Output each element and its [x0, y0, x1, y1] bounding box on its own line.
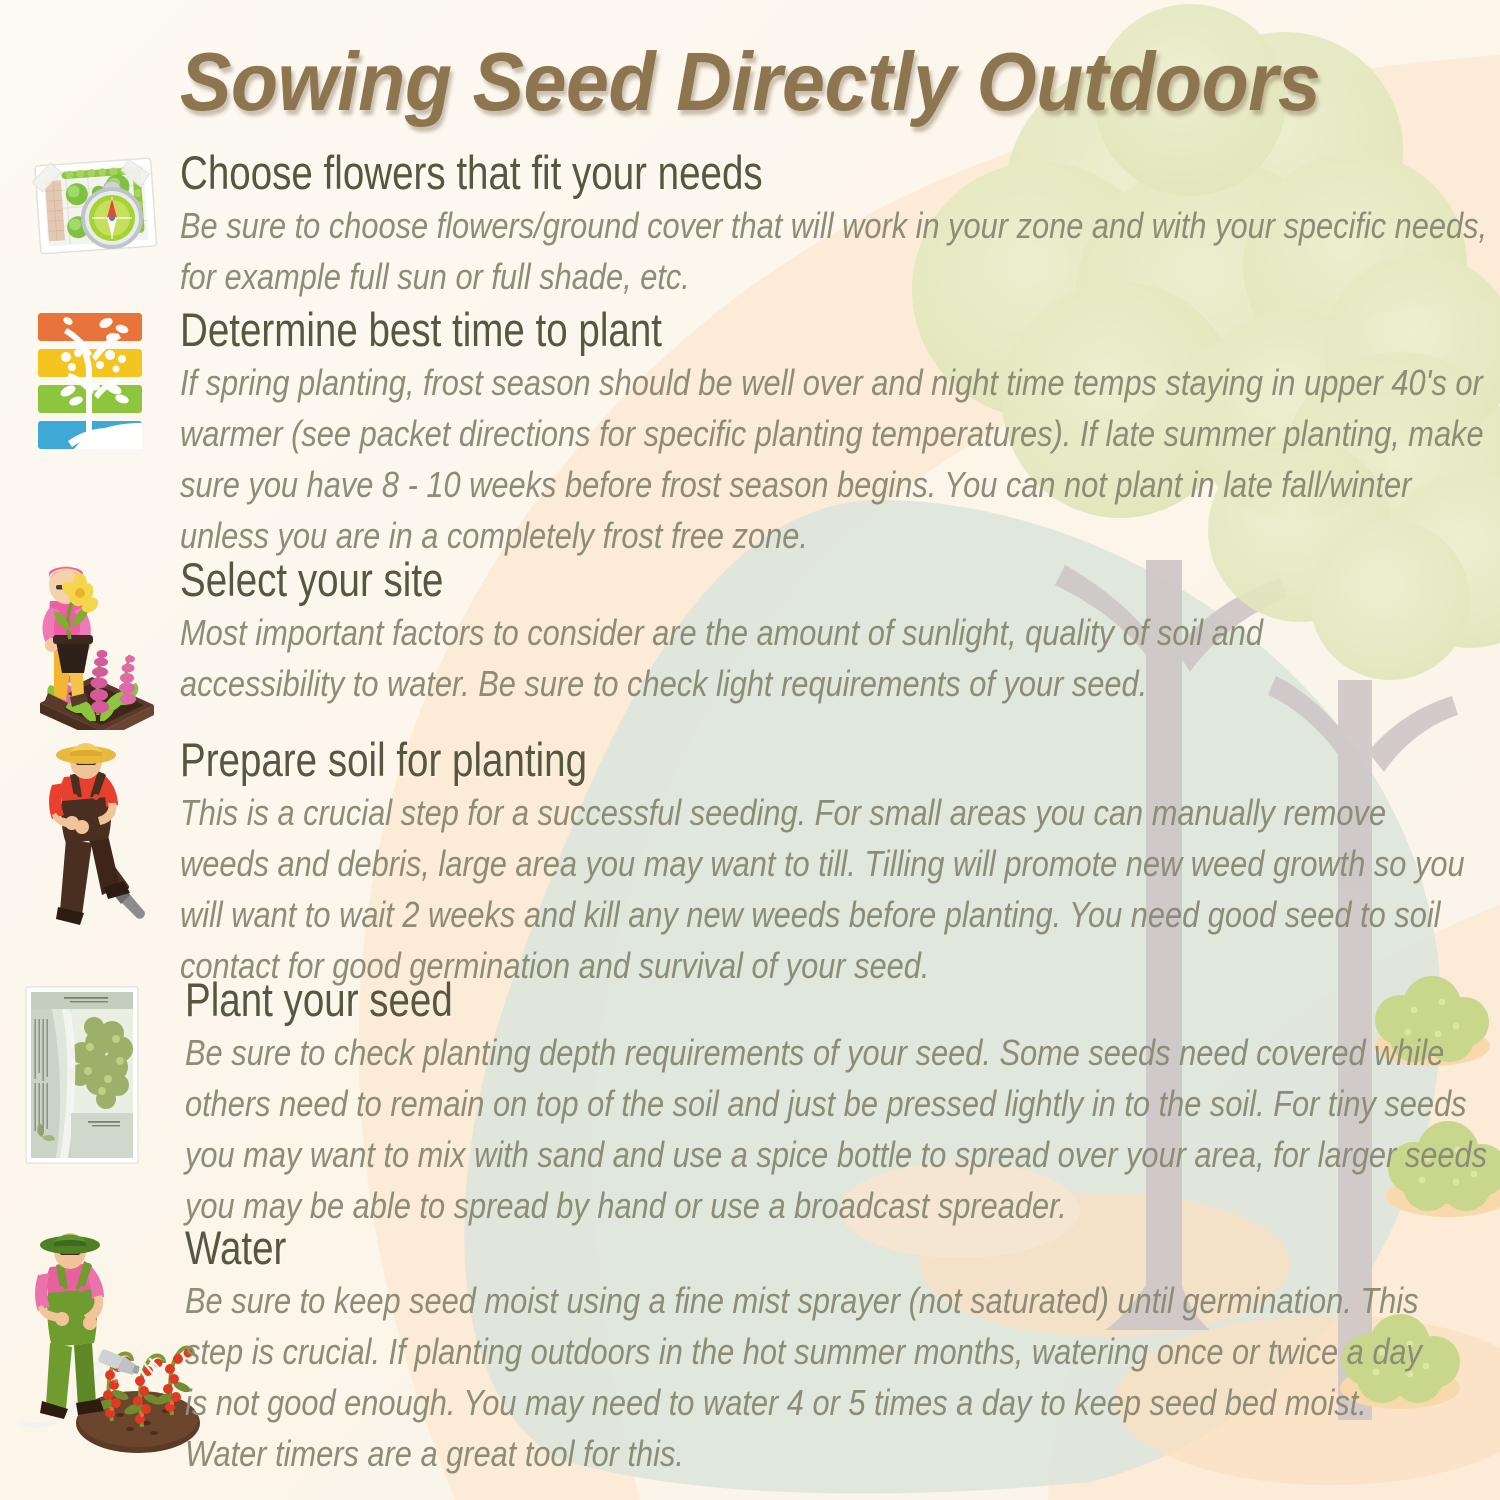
- seed-packet-icon: [20, 975, 170, 1175]
- gardener-with-shovel-icon: [20, 735, 170, 935]
- step-paragraph: Be sure to keep seed moist using a fine …: [185, 1275, 1433, 1479]
- step-body: Choose flowers that fit your needs Be su…: [180, 148, 1500, 302]
- garden-plan-compass-icon: [20, 148, 170, 288]
- step-heading: Determine best time to plant: [180, 305, 1459, 355]
- steps-list: Choose flowers that fit your needs Be su…: [0, 0, 1500, 1500]
- step-paragraph: Be sure to choose flowers/ground cover t…: [180, 200, 1500, 302]
- step-paragraph: Be sure to check planting depth requirem…: [185, 1027, 1500, 1231]
- step-heading: Select your site: [180, 555, 1459, 605]
- step-heading: Prepare soil for planting: [180, 735, 1459, 785]
- poster-title-wrap: Sowing Seed Directly Outdoors: [0, 34, 1500, 130]
- step-body: Select your site Most important factors …: [180, 555, 1500, 709]
- step-body: Determine best time to plant If spring p…: [180, 305, 1500, 561]
- step-body: Water Be sure to keep seed moist using a…: [185, 1223, 1500, 1479]
- step-heading: Choose flowers that fit your needs: [180, 148, 1459, 198]
- gardener-with-potted-flower-icon: [20, 555, 170, 730]
- infographic-poster: Sowing Seed Directly Outdoors: [0, 0, 1500, 1500]
- step-paragraph: Most important factors to consider are t…: [180, 607, 1394, 709]
- step-paragraph: This is a crucial step for a successful …: [180, 787, 1480, 991]
- step-body: Prepare soil for planting This is a cruc…: [180, 735, 1500, 991]
- step-paragraph: If spring planting, frost season should …: [180, 357, 1488, 561]
- step-heading: Plant your seed: [185, 975, 1464, 1025]
- four-seasons-tree-icon: [20, 305, 170, 455]
- step-body: Plant your seed Be sure to check plantin…: [185, 975, 1500, 1231]
- step-heading: Water: [185, 1223, 1464, 1273]
- page-title: Sowing Seed Directly Outdoors: [180, 34, 1320, 130]
- gardener-watering-icon: [20, 1223, 200, 1468]
